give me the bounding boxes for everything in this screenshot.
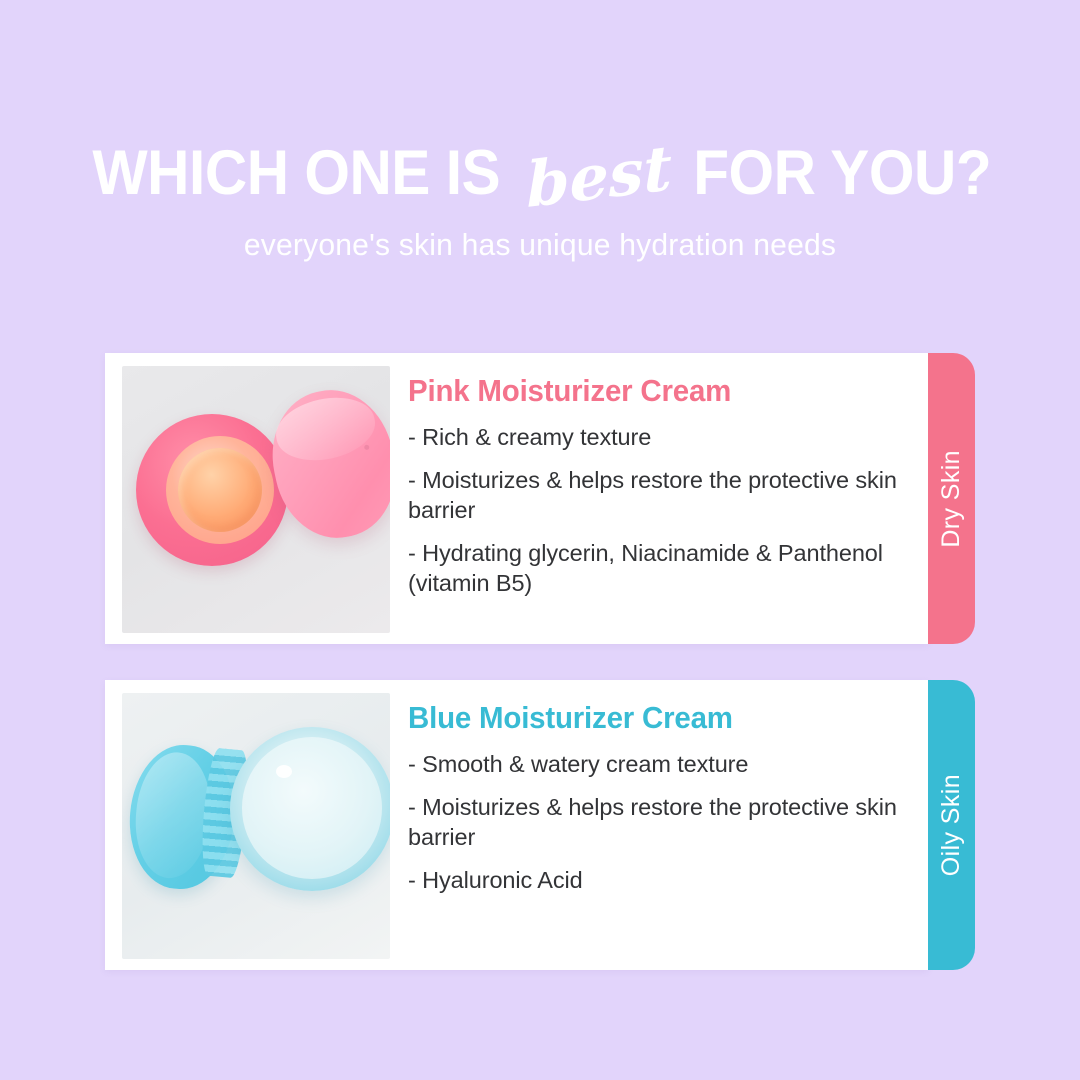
page-subtitle: everyone's skin has unique hydration nee… (16, 227, 1064, 263)
product-card-blue[interactable]: Blue Moisturizer Cream - Smooth & watery… (105, 680, 928, 970)
header: WHICH ONE IS best FOR YOU? everyone's sk… (0, 0, 1080, 263)
jar-base-icon (136, 414, 288, 566)
product-details-blue: Blue Moisturizer Cream - Smooth & watery… (390, 680, 928, 970)
product-image-blue (122, 693, 390, 959)
skin-type-tab-dry[interactable]: Dry Skin (928, 353, 975, 644)
jar-lid-dot-icon (364, 444, 370, 450)
product-feature: - Rich & creamy texture (408, 422, 910, 453)
page-headline: WHICH ONE IS best FOR YOU? (0, 142, 1080, 205)
headline-suffix: FOR YOU? (693, 142, 991, 205)
cream-surface-icon (178, 448, 262, 532)
product-details-pink: Pink Moisturizer Cream - Rich & creamy t… (390, 353, 928, 644)
cream-bubble-icon (276, 765, 292, 778)
headline-script-word: best (516, 136, 682, 219)
product-feature: - Hydrating glycerin, Niacinamide & Pant… (408, 538, 910, 599)
skin-type-tab-label: Dry Skin (937, 450, 966, 548)
product-feature: - Moisturizes & helps restore the protec… (408, 792, 910, 853)
skin-type-tab-label: Oily Skin (937, 774, 966, 876)
jar-lid-highlight-icon (270, 389, 380, 468)
product-feature: - Smooth & watery cream texture (408, 749, 910, 780)
jar-inner-rim-icon (166, 436, 274, 544)
product-title-pink: Pink Moisturizer Cream (408, 373, 885, 409)
skin-type-tab-oily[interactable]: Oily Skin (928, 680, 975, 970)
product-title-blue: Blue Moisturizer Cream (408, 700, 885, 736)
headline-prefix: WHICH ONE IS (93, 142, 501, 205)
jar-base-icon (230, 727, 390, 891)
product-card-pink[interactable]: Pink Moisturizer Cream - Rich & creamy t… (105, 353, 928, 644)
product-feature: - Hyaluronic Acid (408, 865, 910, 896)
product-image-pink (122, 366, 390, 633)
product-feature: - Moisturizes & helps restore the protec… (408, 465, 910, 526)
cream-surface-icon (242, 737, 382, 879)
